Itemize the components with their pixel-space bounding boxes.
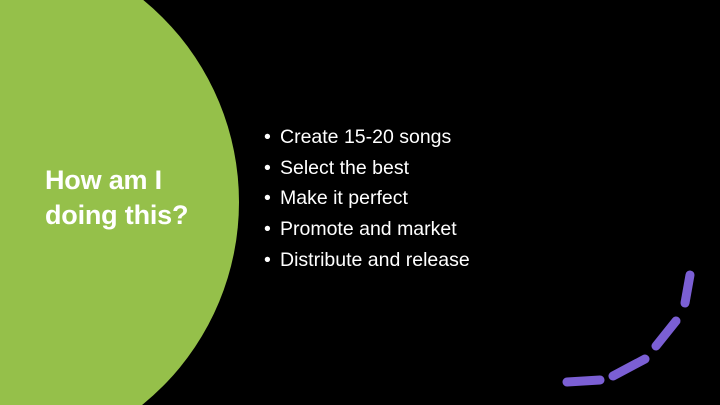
slide-title-line-1: How am I	[45, 163, 245, 198]
list-item: • Distribute and release	[262, 245, 470, 276]
list-item-label: Distribute and release	[280, 249, 470, 271]
list-item-label: Promote and market	[280, 218, 457, 240]
bullet-list: • Create 15-20 songs • Select the best •…	[262, 122, 470, 275]
list-item: • Create 15-20 songs	[262, 122, 470, 153]
list-item-label: Select the best	[280, 157, 409, 179]
bullet-marker-icon: •	[264, 153, 271, 184]
purple-dashed-arc-decoration	[540, 255, 720, 405]
list-item-label: Create 15-20 songs	[280, 126, 451, 148]
slide-title-line-2: doing this?	[45, 198, 245, 233]
bullet-marker-icon: •	[264, 183, 271, 214]
list-item: • Select the best	[262, 153, 470, 184]
list-item-label: Make it perfect	[280, 187, 408, 209]
arc-dash-4	[685, 275, 690, 303]
arc-dash-3	[656, 321, 676, 346]
list-item: • Make it perfect	[262, 183, 470, 214]
slide-title: How am I doing this?	[45, 163, 245, 233]
arc-dash-2	[613, 359, 645, 376]
presentation-slide: How am I doing this? • Create 15-20 song…	[0, 0, 720, 405]
list-item: • Promote and market	[262, 214, 470, 245]
arc-dash-1	[567, 380, 600, 382]
bullet-marker-icon: •	[264, 214, 271, 245]
bullet-marker-icon: •	[264, 122, 271, 153]
bullet-marker-icon: •	[264, 245, 271, 276]
